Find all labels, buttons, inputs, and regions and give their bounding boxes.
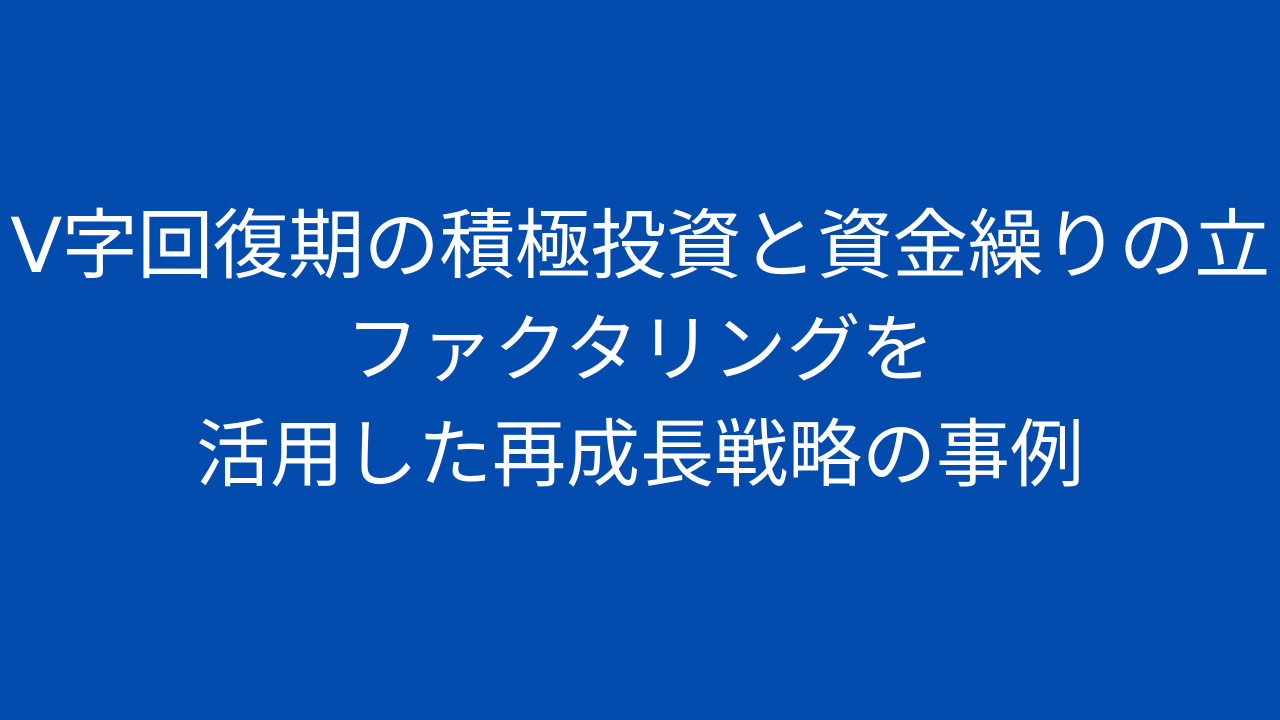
title-line-1: V字回復期の積極投資と資金繰りの立: [0, 193, 1280, 298]
title-line-2: ファクタリングを: [0, 298, 1280, 403]
title-slide: V字回復期の積極投資と資金繰りの立 ファクタリングを 活用した再成長戦略の事例: [0, 0, 1280, 720]
title-line-3: 活用した再成長戦略の事例: [0, 403, 1280, 508]
page-title: V字回復期の積極投資と資金繰りの立 ファクタリングを 活用した再成長戦略の事例: [0, 193, 1280, 508]
